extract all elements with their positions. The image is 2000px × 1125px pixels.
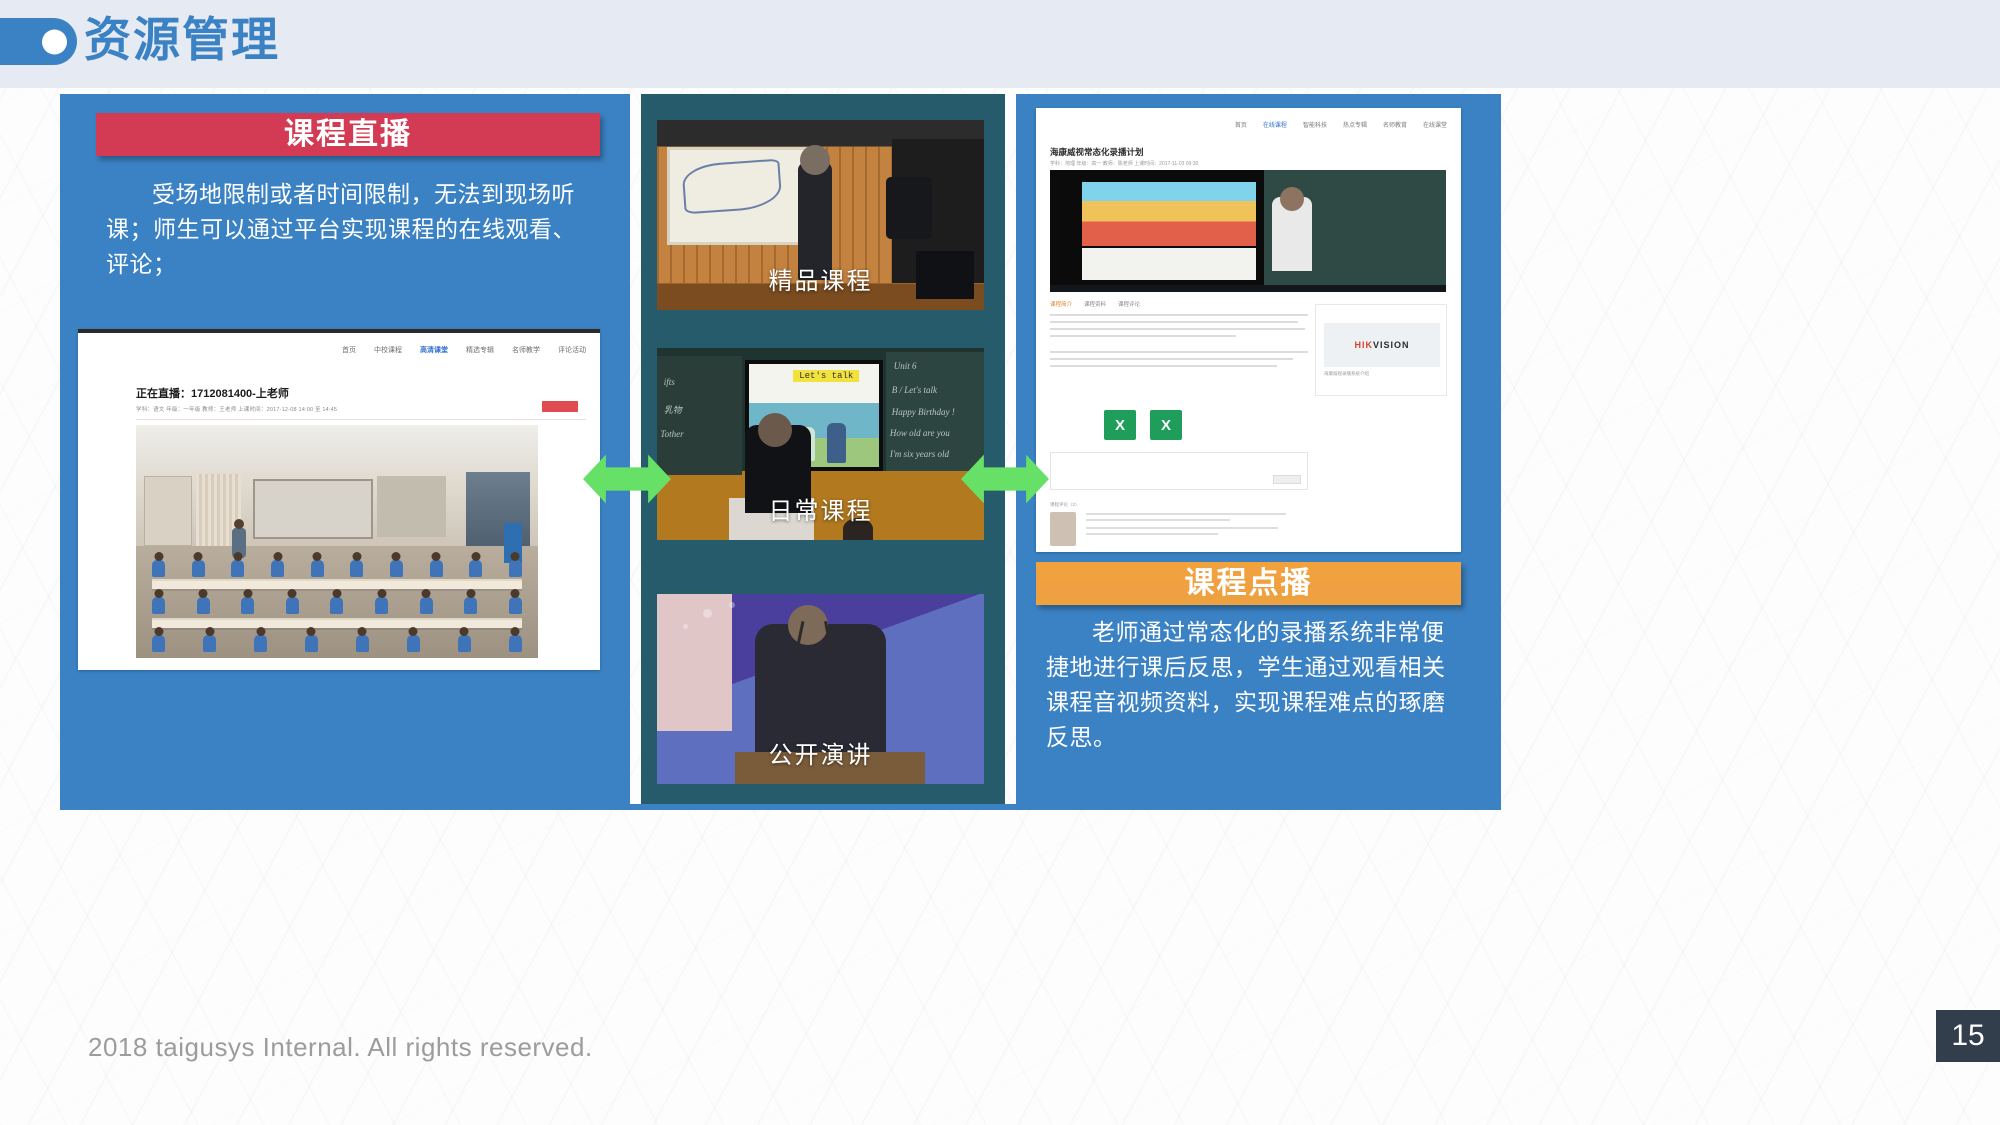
banner-course-live: 课程直播 xyxy=(96,113,600,156)
chalk-line-6: How old are you xyxy=(890,428,950,438)
logo-suffix: VISION xyxy=(1373,340,1410,350)
photo-label-1: 日常课程 xyxy=(657,491,984,526)
chalk-line-7: I'm six years old xyxy=(890,449,949,459)
slide-header: 资源管理 xyxy=(0,0,2000,88)
classroom-video-frame[interactable] xyxy=(136,425,538,658)
avatar xyxy=(1050,526,1076,546)
student-row xyxy=(152,635,522,652)
chalk-line-1: 乳物 xyxy=(664,403,682,416)
chair xyxy=(886,177,932,239)
projection-screen xyxy=(1082,182,1256,245)
teacher-head xyxy=(1280,187,1304,211)
window xyxy=(144,476,192,546)
vod-brand-card: HIKVISION 海康威视录播系统介绍 xyxy=(1315,304,1447,396)
toggle-pill-icon xyxy=(0,18,77,65)
nav-item-3[interactable]: 精选专辑 xyxy=(466,345,494,355)
comment-input-box[interactable] xyxy=(1050,452,1308,490)
excel-file-icon[interactable]: X xyxy=(1150,410,1182,440)
chalkboard-right: Unit 6 B / Let's talk Happy Birthday ! H… xyxy=(886,352,984,471)
nav-item-2[interactable]: 高清课堂 xyxy=(420,345,448,355)
screenshot-vod-platform[interactable]: 首页 在线课程 智能科技 热点专辑 名师教育 在线课堂 海康威视常态化录播计划 … xyxy=(1036,108,1461,552)
tab-2[interactable]: 课程评论 xyxy=(1118,300,1140,308)
comment-heading: 课程评论（2） xyxy=(1050,502,1350,508)
desk-row xyxy=(152,579,522,589)
banner-course-vod: 课程点播 xyxy=(1036,562,1461,605)
excel-file-icon[interactable]: X xyxy=(1104,410,1136,440)
nav-item-0[interactable]: 首页 xyxy=(1235,120,1247,129)
nav-item-2[interactable]: 智能科技 xyxy=(1303,120,1327,129)
tab-0[interactable]: 课程简介 xyxy=(1050,300,1072,308)
chalkboard-left: ifts 乳物 Tother xyxy=(657,356,742,475)
projection-screen xyxy=(377,476,445,537)
comment-text xyxy=(1086,513,1286,525)
projection-screen-lower xyxy=(1082,248,1256,280)
chalk-line-3: Unit 6 xyxy=(894,361,917,371)
photo-lecture-hall[interactable]: 精品课程 xyxy=(657,120,984,310)
whiteboard xyxy=(253,479,374,540)
screenshot-nav[interactable]: 首页 中校课程 高清课堂 精选专辑 名师教学 评论活动 xyxy=(342,345,586,355)
footer-divider xyxy=(60,804,1501,810)
chalk-line-0: ifts xyxy=(664,377,675,387)
brand-card-caption: 海康威视录播系统介绍 xyxy=(1324,371,1369,377)
photo-public-speech[interactable]: 公开演讲 xyxy=(657,594,984,784)
nav-item-3[interactable]: 热点专辑 xyxy=(1343,120,1367,129)
description-course-live: 受场地限制或者时间限制，无法到现场听课；师生可以通过平台实现课程的在线观看、评论… xyxy=(106,177,596,282)
chalk-line-4: B / Let's talk xyxy=(892,385,937,395)
nav-item-4[interactable]: 名师教学 xyxy=(512,345,540,355)
comment-text xyxy=(1086,527,1286,539)
student-row xyxy=(152,597,522,614)
vod-course-meta: 学科：地理 年级：高一 教师：陈老师 上课时间：2017-11-03 09:30 xyxy=(1050,160,1198,167)
screenshot-nav[interactable]: 首页 在线课程 智能科技 热点专辑 名师教育 在线课堂 xyxy=(1235,120,1447,129)
comment-submit-button[interactable] xyxy=(1273,475,1301,484)
light-dot xyxy=(729,602,735,608)
student-row xyxy=(152,560,522,577)
tab-1[interactable]: 课程资料 xyxy=(1084,300,1106,308)
cartoon-figure xyxy=(827,423,846,463)
live-stream-title: 正在直播：1712081400-上老师 xyxy=(136,385,289,401)
screenshot-live-platform[interactable]: 首页 中校课程 高清课堂 精选专辑 名师教学 评论活动 正在直播：1712081… xyxy=(78,329,600,670)
vod-description-block xyxy=(1050,314,1308,372)
page-number-badge: 15 xyxy=(1936,1010,2000,1062)
video-progress-bar[interactable] xyxy=(1050,285,1446,292)
toggle-pill-dot-icon xyxy=(42,29,67,54)
nav-item-5[interactable]: 评论活动 xyxy=(558,345,586,355)
nav-item-0[interactable]: 首页 xyxy=(342,345,356,355)
photo-daily-class[interactable]: ifts 乳物 Tother Unit 6 B / Let's talk Hap… xyxy=(657,348,984,540)
photo-label-0: 精品课程 xyxy=(657,261,984,296)
comment-item xyxy=(1050,526,1350,546)
description-course-vod: 老师通过常态化的录播系统非常便捷地进行课后反思，学生通过观看相关课程音视频资料，… xyxy=(1046,615,1451,755)
presenter-head xyxy=(800,145,830,175)
hikvision-logo: HIKVISION xyxy=(1324,323,1440,367)
photo-label-2: 公开演讲 xyxy=(657,735,984,770)
live-action-button[interactable] xyxy=(542,401,578,412)
page-title: 资源管理 xyxy=(84,5,280,75)
nav-item-1[interactable]: 中校课程 xyxy=(374,345,402,355)
video-player[interactable] xyxy=(1050,170,1446,292)
chalk-line-5: Happy Birthday ! xyxy=(892,407,955,417)
nav-item-5[interactable]: 在线课堂 xyxy=(1423,120,1447,129)
live-stream-meta: 学科：语文 年级：一年级 教师：王老师 上课时间：2017-12-08 14:0… xyxy=(136,405,337,413)
vod-tabs[interactable]: 课程简介 课程资料 课程评论 xyxy=(1050,300,1140,308)
slide-caption: Let's talk xyxy=(793,370,859,382)
vod-course-title: 海康威视常态化录播计划 xyxy=(1050,146,1144,158)
chalk-line-2: Tother xyxy=(660,429,683,439)
nav-item-4[interactable]: 名师教育 xyxy=(1383,120,1407,129)
light-dot xyxy=(703,609,712,618)
logo-prefix: HIK xyxy=(1354,340,1373,350)
nav-item-1[interactable]: 在线课程 xyxy=(1263,120,1287,129)
speaker-head xyxy=(788,605,828,645)
divider xyxy=(136,419,586,420)
browser-topbar xyxy=(78,329,600,333)
footer-copyright: 2018 taigusys Internal. All rights reser… xyxy=(88,1032,593,1063)
side-panel xyxy=(657,594,732,731)
